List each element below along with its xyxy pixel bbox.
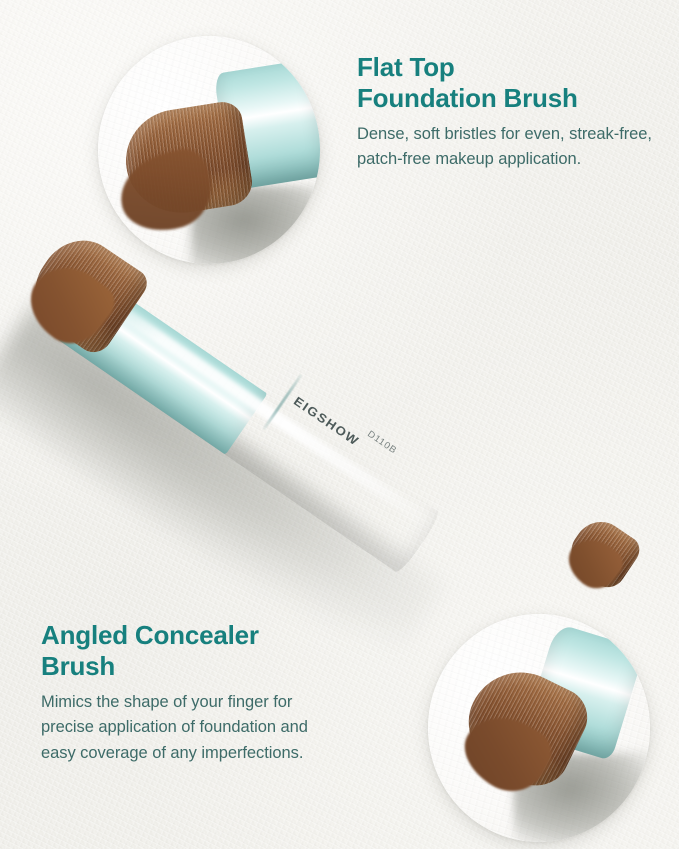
feature-heading-angled-concealer: Angled Concealer Brush [41, 620, 346, 681]
feature-text-flat-top: Flat Top Foundation Brush Dense, soft br… [357, 52, 657, 173]
brush-handle-seam [263, 374, 303, 430]
feature-body-flat-top: Dense, soft bristles for even, streak-fr… [357, 122, 657, 172]
flat-top-brush-inset-photo [98, 36, 320, 264]
brand-logo-print: EIGSHOW [291, 394, 362, 449]
feature-heading-line-1: Angled Concealer [41, 620, 259, 650]
angled-concealer-brush-head-tip [559, 529, 628, 597]
feature-heading-flat-top: Flat Top Foundation Brush [357, 52, 657, 113]
brush-handle-highlight [97, 292, 437, 532]
product-feature-image: Flat Top Foundation Brush Dense, soft br… [0, 0, 679, 849]
feature-heading-line-1: Flat Top [357, 52, 455, 82]
feature-heading-line-2: Brush [41, 651, 115, 681]
brush-handle-lower-segment [54, 276, 442, 575]
feature-text-angled-concealer: Angled Concealer Brush Mimics the shape … [41, 620, 346, 766]
flat-top-brush-head-tip [16, 252, 122, 357]
angled-concealer-brush-head [561, 512, 645, 595]
feature-heading-line-2: Foundation Brush [357, 83, 578, 113]
model-number-print: D110B [365, 429, 398, 456]
angled-concealer-inset-photo [428, 614, 650, 842]
brush-handle-upper-segment [54, 276, 267, 455]
feature-body-angled-concealer: Mimics the shape of your finger for prec… [41, 690, 346, 765]
